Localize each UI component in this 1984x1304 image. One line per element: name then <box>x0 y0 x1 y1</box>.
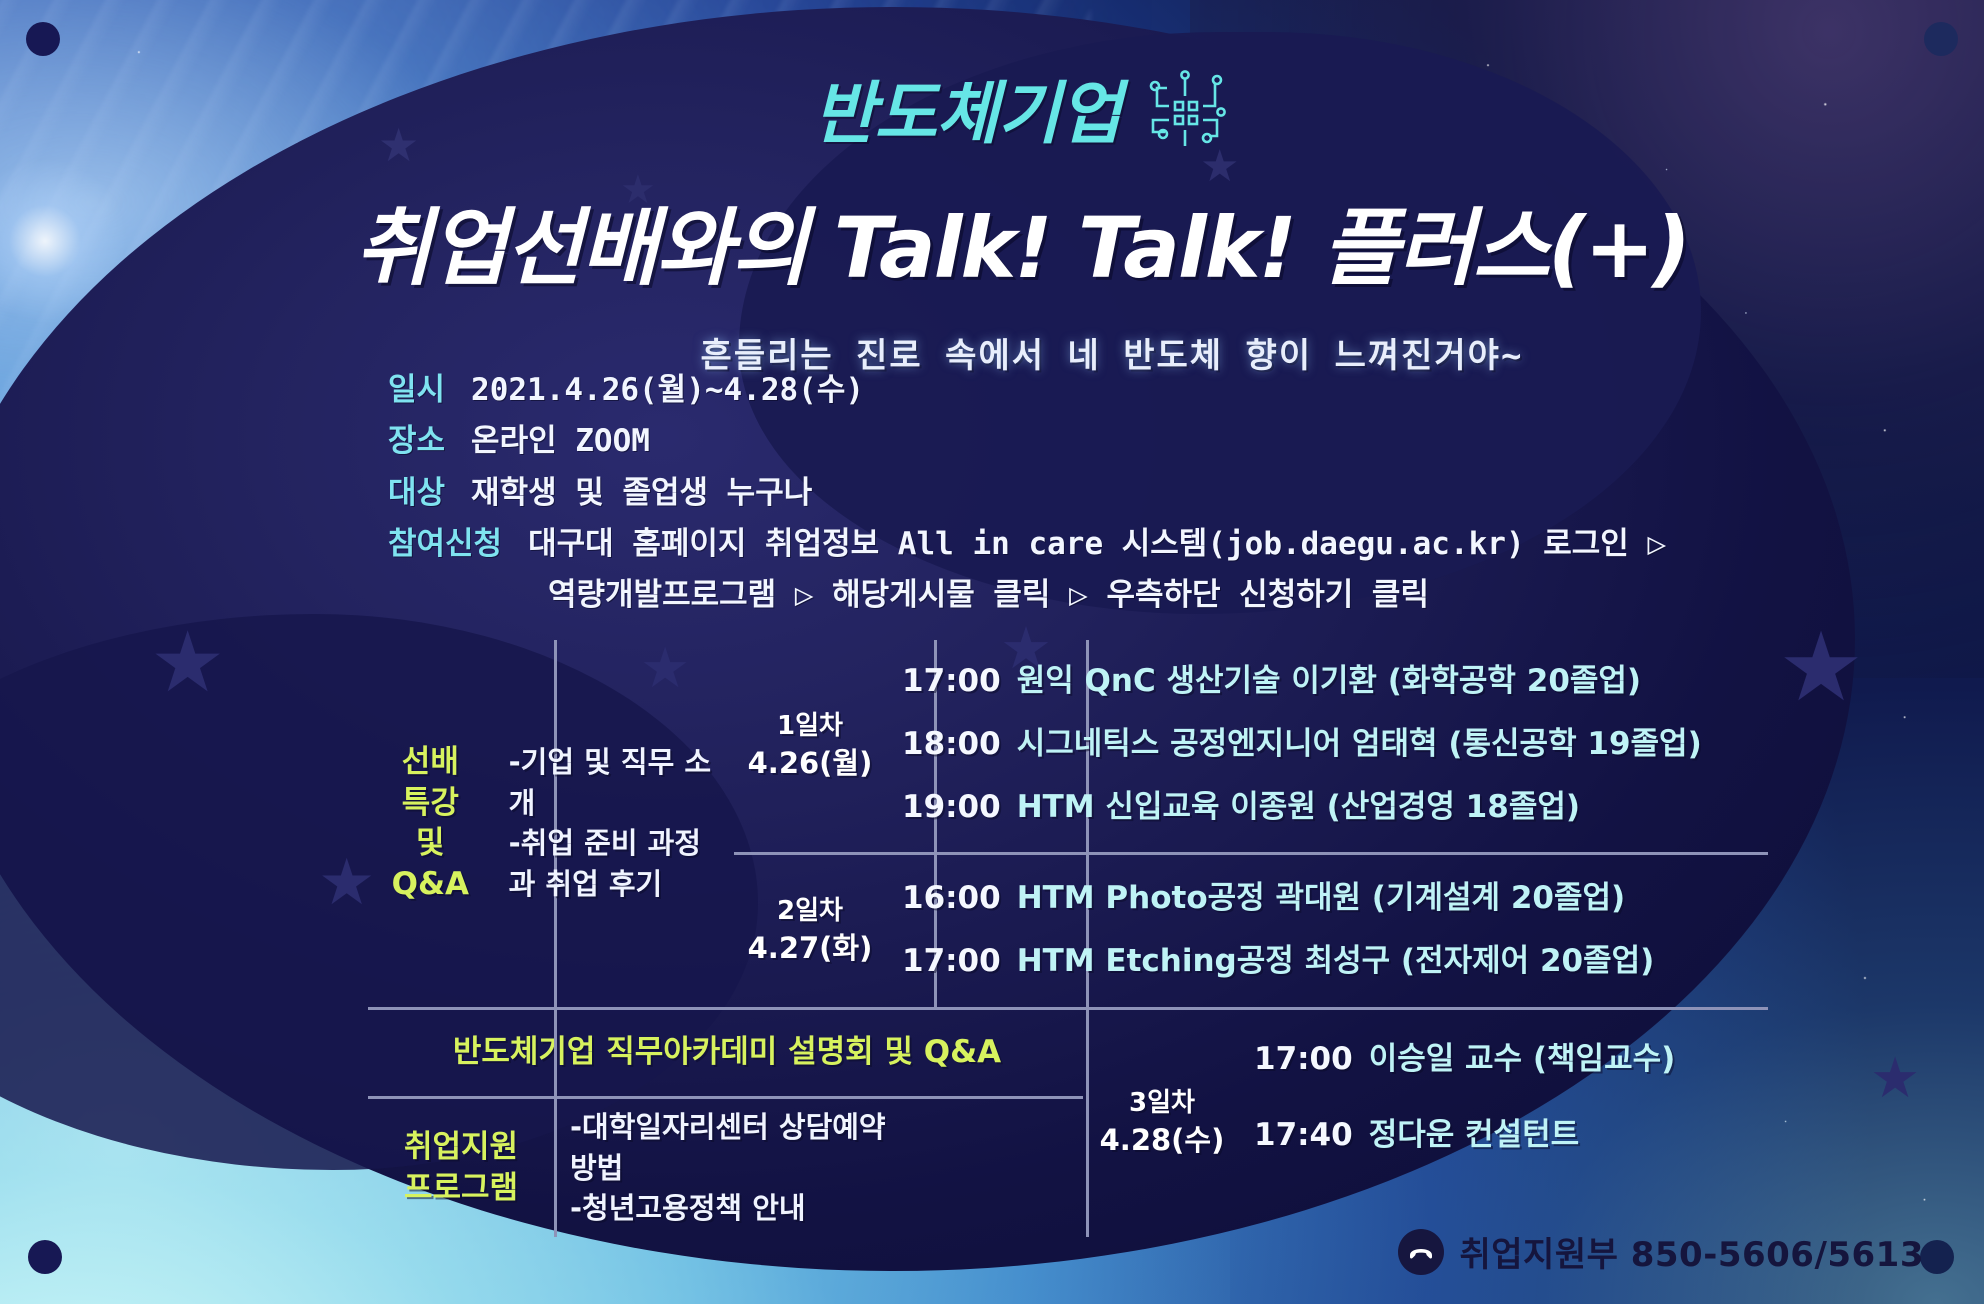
binding-dot-top-left <box>26 22 60 56</box>
desc-lecture-line1: -기업 및 직무 소개 <box>509 742 718 823</box>
schedule-day3-sessions: 17:00 이승일 교수 (책임교수) 17:40 정다운 컨설턴트 <box>1238 1010 1768 1237</box>
session-item: 18:00 시그네틱스 공정엔지니어 엄태혁 (통신공학 19졸업) <box>902 713 1752 776</box>
session-time: 16:00 <box>902 880 1001 917</box>
day1-date: 4.26(월) <box>748 744 873 783</box>
info-label-audience: 대상 <box>388 471 445 516</box>
footer-contact: 취업지원부 850-5606/5613 <box>1398 1227 1925 1276</box>
schedule-days-wrap: 1일차 4.26(월) 17:00 원익 QnC 생산기술 이기환 (화학공학 … <box>734 640 1768 1007</box>
schedule-table: 선배 특강 및 Q&A -기업 및 직무 소개 -취업 준비 과정과 취업 후기… <box>368 640 1768 1237</box>
info-row-place: 장소 온라인 ZOOM <box>388 419 1666 464</box>
day3-ordinal: 3일차 <box>1100 1086 1225 1121</box>
info-label-place: 장소 <box>388 419 445 464</box>
info-value-apply: 대구대 홈페이지 취업정보 All in care 시스템(job.daegu.… <box>528 522 1666 567</box>
session-item: 19:00 HTM 신입교육 이종원 (산업경영 18졸업) <box>902 776 1752 839</box>
session-text: HTM 신입교육 이종원 (산업경영 18졸업) <box>1017 789 1580 826</box>
session-item: 17:00 원익 QnC 생산기술 이기환 (화학공학 20졸업) <box>902 650 1752 713</box>
info-value-date: 2021.4.26(월)~4.28(수) <box>471 368 864 413</box>
day1-ordinal: 1일차 <box>748 709 873 744</box>
telephone-icon <box>1398 1229 1444 1275</box>
info-row-apply-continued: 역량개발프로그램 ▷ 해당게시물 클릭 ▷ 우측하단 신청하기 클릭 <box>388 573 1666 618</box>
category-lecture-text: 선배 특강 및 Q&A <box>384 742 477 906</box>
schedule-desc-lecture: -기업 및 직무 소개 -취업 준비 과정과 취업 후기 <box>493 640 734 1007</box>
day2-ordinal: 2일차 <box>748 894 873 929</box>
category-support-text: 취업지원 프로그램 <box>404 1127 518 1209</box>
schedule-category-support: 취업지원 프로그램 <box>368 1099 554 1237</box>
day2-date: 4.27(화) <box>748 929 873 968</box>
session-time: 17:00 <box>1254 1041 1353 1078</box>
day2-text: 2일차 4.27(화) <box>748 894 873 968</box>
desc-support-line1: -대학일자리센터 상담예약 방법 <box>570 1107 918 1188</box>
binding-dot-bottom-right <box>1920 1240 1954 1274</box>
session-time: 18:00 <box>902 726 1001 763</box>
session-text: 시그네틱스 공정엔지니어 엄태혁 (통신공학 19졸업) <box>1017 726 1702 763</box>
session-time: 17:00 <box>902 663 1001 700</box>
day3-text: 3일차 4.28(수) <box>1100 1086 1225 1160</box>
info-row-audience: 대상 재학생 및 졸업생 누구나 <box>388 471 1666 516</box>
info-value-audience: 재학생 및 졸업생 누구나 <box>471 471 812 516</box>
info-row-apply: 참여신청 대구대 홈페이지 취업정보 All in care 시스템(job.d… <box>388 522 1666 567</box>
session-time: 19:00 <box>902 789 1001 826</box>
schedule-day2-sessions: 16:00 HTM Photo공정 곽대원 (기계설계 20졸업) 17:00 … <box>886 855 1768 1007</box>
star-decoration: ★ <box>150 620 225 704</box>
schedule-day2-label: 2일차 4.27(화) <box>734 855 886 1007</box>
schedule-day1-row: 1일차 4.26(월) 17:00 원익 QnC 생산기술 이기환 (화학공학 … <box>734 640 1768 852</box>
schedule-block-support: 반도체기업 직무아카데미 설명회 및 Q&A 취업지원 프로그램 -대학일자리센… <box>368 1010 1768 1237</box>
session-item: 17:00 HTM Etching공정 최성구 (전자제어 20졸업) <box>902 930 1752 993</box>
session-text: 원익 QnC 생산기술 이기환 (화학공학 20졸업) <box>1017 663 1641 700</box>
category-support-line2: 프로그램 <box>404 1168 518 1209</box>
info-value-place: 온라인 ZOOM <box>471 419 650 464</box>
day3-date: 4.28(수) <box>1100 1121 1225 1160</box>
star-decoration: ★ <box>1778 620 1864 716</box>
star-decoration: ★ <box>1870 1050 1920 1106</box>
kicker-row: 반도체기업 <box>0 58 1984 163</box>
event-info-block: 일시 2021.4.26(월)~4.28(수) 장소 온라인 ZOOM 대상 재… <box>388 368 1666 624</box>
info-row-date: 일시 2021.4.26(월)~4.28(수) <box>388 368 1666 413</box>
schedule-support-left: 반도체기업 직무아카데미 설명회 및 Q&A 취업지원 프로그램 -대학일자리센… <box>368 1010 1086 1237</box>
category-lecture-line1: 선배 특강 <box>384 742 477 824</box>
desc-support-line2: -청년고용정책 안내 <box>570 1188 918 1229</box>
footer-contact-text: 취업지원부 850-5606/5613 <box>1460 1227 1925 1276</box>
info-label-date: 일시 <box>388 368 445 413</box>
desc-support-text: -대학일자리센터 상담예약 방법 -청년고용정책 안내 <box>570 1107 918 1229</box>
session-item: 17:40 정다운 컨설턴트 <box>1254 1091 1752 1167</box>
academy-row-title: 반도체기업 직무아카데미 설명회 및 Q&A <box>453 1032 1001 1073</box>
desc-lecture-text: -기업 및 직무 소개 -취업 준비 과정과 취업 후기 <box>509 742 718 904</box>
binding-dot-bottom-left <box>28 1240 62 1274</box>
session-text: 정다운 컨설턴트 <box>1369 1117 1579 1154</box>
star-decoration: ★ <box>318 850 375 914</box>
binding-dot-top-right <box>1924 22 1958 56</box>
session-time: 17:00 <box>902 943 1001 980</box>
kicker-text: 반도체기업 <box>813 58 1121 157</box>
schedule-day1-sessions: 17:00 원익 QnC 생산기술 이기환 (화학공학 20졸업) 18:00 … <box>886 640 1768 852</box>
schedule-block-lecture: 선배 특강 및 Q&A -기업 및 직무 소개 -취업 준비 과정과 취업 후기… <box>368 640 1768 1007</box>
academy-row: 반도체기업 직무아카데미 설명회 및 Q&A <box>368 1010 1086 1096</box>
poster-header: 반도체기업 <box>0 58 1984 377</box>
session-item: 16:00 HTM Photo공정 곽대원 (기계설계 20졸업) <box>902 867 1752 930</box>
support-row: 취업지원 프로그램 -대학일자리센터 상담예약 방법 -청년고용정책 안내 <box>368 1099 1086 1237</box>
category-lecture-line3: Q&A <box>384 864 477 905</box>
session-time: 17:40 <box>1254 1117 1353 1154</box>
schedule-day3-label: 3일차 4.28(수) <box>1086 1010 1238 1237</box>
session-item: 17:00 이승일 교수 (책임교수) <box>1254 1028 1752 1091</box>
session-text: HTM Photo공정 곽대원 (기계설계 20졸업) <box>1017 880 1626 917</box>
info-label-apply: 참여신청 <box>388 522 502 567</box>
schedule-category-lecture: 선배 특강 및 Q&A <box>368 640 493 1007</box>
poster-root: ★ ★ ★ ★ ★ ★ ★ ★ ★ 반도체기업 <box>0 0 1984 1304</box>
desc-lecture-line2: -취업 준비 과정과 취업 후기 <box>509 823 718 904</box>
schedule-day2-row: 2일차 4.27(화) 16:00 HTM Photo공정 곽대원 (기계설계 … <box>734 855 1768 1007</box>
category-lecture-line2: 및 <box>384 823 477 864</box>
session-text: HTM Etching공정 최성구 (전자제어 20졸업) <box>1017 943 1655 980</box>
poster-title: 취업선배와의 Talk! Talk! 플러스(+) <box>0 181 1984 302</box>
info-value-apply-continued: 역량개발프로그램 ▷ 해당게시물 클릭 ▷ 우측하단 신청하기 클릭 <box>548 573 1429 618</box>
schedule-desc-support: -대학일자리센터 상담예약 방법 -청년고용정책 안내 <box>554 1099 934 1237</box>
day1-text: 1일차 4.26(월) <box>748 709 873 783</box>
category-support-line1: 취업지원 <box>404 1127 518 1168</box>
session-text: 이승일 교수 (책임교수) <box>1369 1041 1676 1078</box>
circuit-chip-icon <box>1139 66 1231 163</box>
schedule-day1-label: 1일차 4.26(월) <box>734 640 886 852</box>
